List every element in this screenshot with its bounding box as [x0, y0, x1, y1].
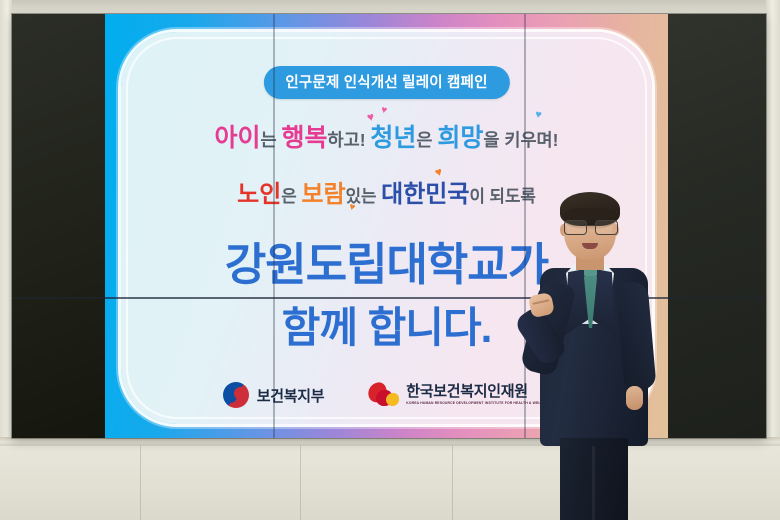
slogan-particle: 은: [416, 130, 437, 150]
wall-right-column: [766, 0, 780, 446]
tile-seam: [140, 446, 141, 520]
ceiling-trim: [0, 0, 780, 13]
slogan-particle: 있는: [346, 187, 382, 206]
tile-seam: [300, 446, 301, 520]
headline-organization-name: 강원도립대학교: [225, 239, 508, 290]
glasses-icon: [564, 220, 616, 233]
photo-scene: 인구문제 인식개선 릴레이 캠페인 ♥ ♥ ♥ ♥ ♥ 아이는 행복하고! 청년…: [0, 0, 780, 520]
hand-right: [626, 386, 643, 410]
video-wall-panel-left-off: [12, 14, 105, 438]
slogan-word-hope: 희망: [437, 124, 483, 152]
blob-icon: [368, 383, 398, 407]
tile-seam: [452, 446, 453, 520]
screen-bezel-seam: [273, 14, 275, 438]
video-wall-panel-right-off: [668, 14, 766, 438]
slogan-word-korea: 대한민국: [381, 181, 469, 208]
wall-left-column: [0, 0, 12, 446]
slogan-particle: 하고!: [328, 130, 371, 150]
slogan-word-youth: 청년: [370, 124, 416, 152]
trouser-leg-split: [592, 446, 595, 520]
slogan-word-happy: 행복: [281, 124, 327, 152]
logo-label: 보건복지부: [257, 385, 325, 406]
slogan-word-worthwhile: 보람: [301, 181, 345, 208]
person-standing: [524, 190, 664, 520]
slogan-particle: 은: [281, 187, 301, 206]
slogan-particle: 을 키우며!: [483, 130, 558, 150]
slogan-line-1: 아이는 행복하고! 청년은 희망을 키우며!: [105, 118, 668, 154]
logo-korea-hrd-institute: 한국보건복지인재원 KOREA HUMAN RESOURCE DEVELOPME…: [368, 383, 550, 407]
slogan-word-child: 아이: [215, 124, 261, 152]
campaign-badge: 인구문제 인식개선 릴레이 캠페인: [263, 66, 509, 99]
heart-icon: ♥: [380, 105, 388, 116]
taegeuk-icon: [223, 382, 249, 408]
slogan-particle: 는: [261, 130, 282, 150]
